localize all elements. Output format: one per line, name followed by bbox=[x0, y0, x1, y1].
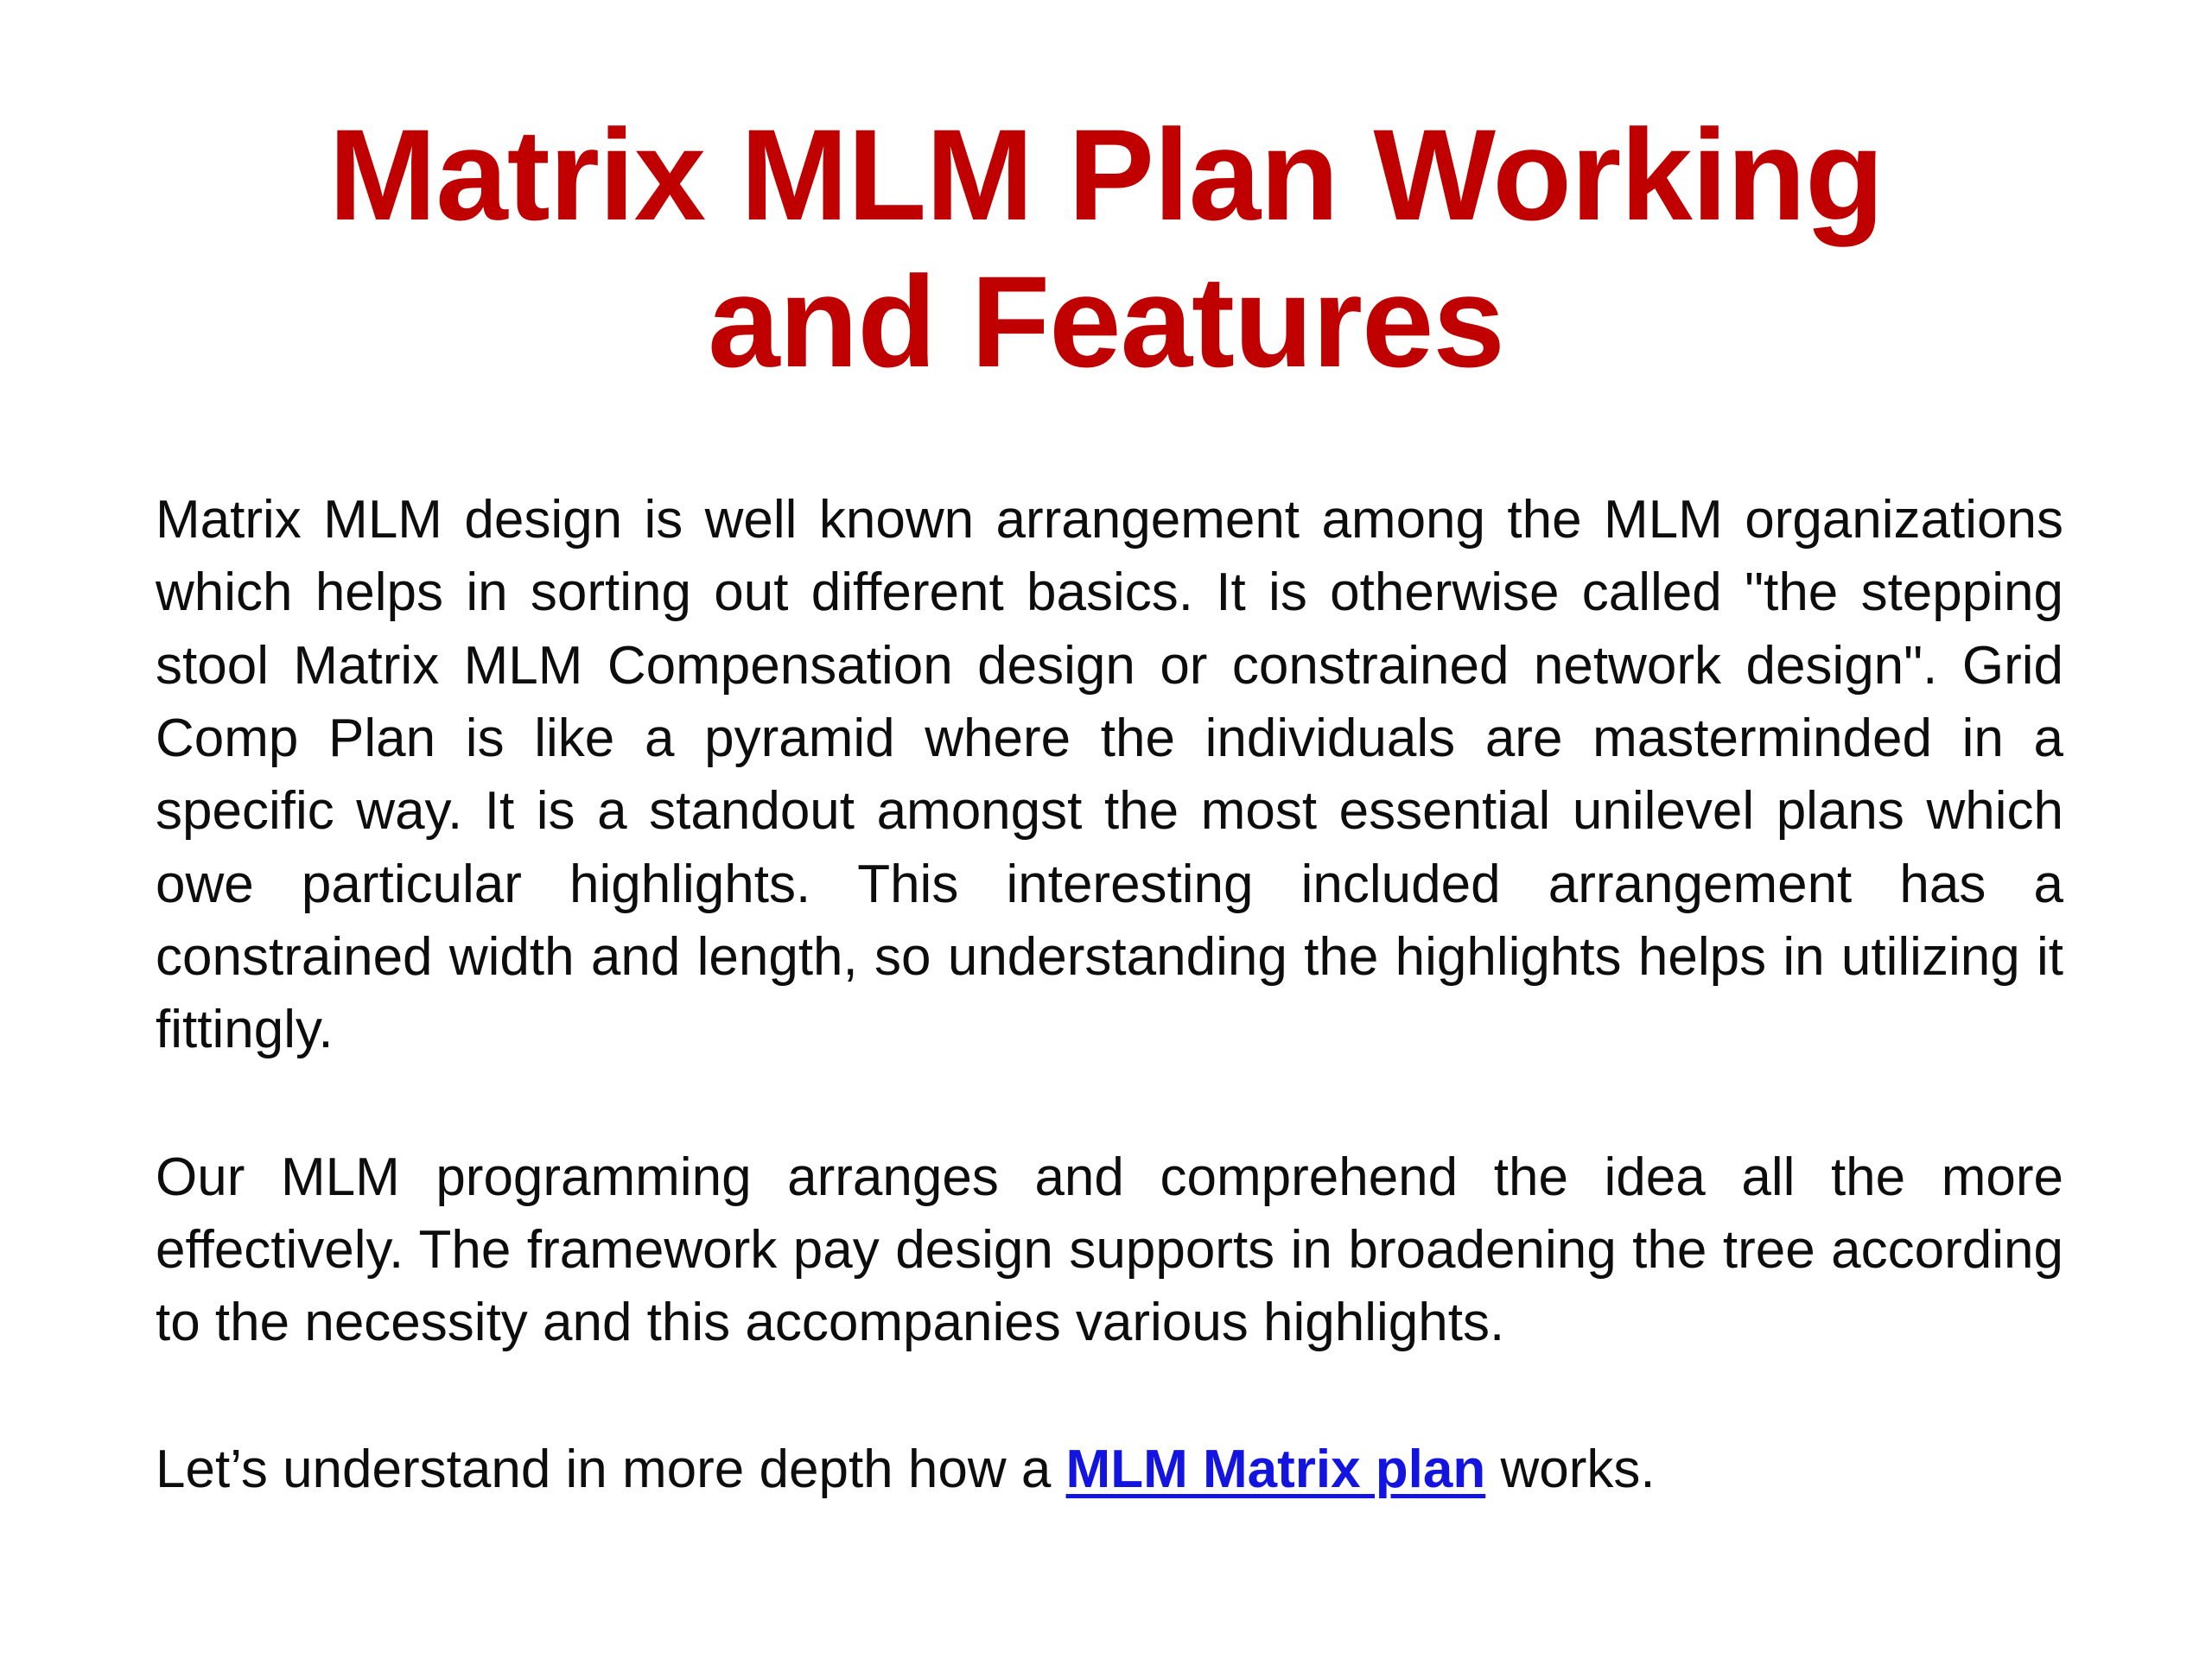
closing-lead-text: Let’s understand in more depth how a bbox=[156, 1440, 1066, 1499]
title-block: Matrix MLM Plan Working and Features bbox=[199, 102, 2013, 395]
body-content: Matrix MLM design is well known arrangem… bbox=[156, 484, 2063, 1507]
paragraph-spacer-2 bbox=[156, 1359, 2063, 1433]
presentation-slide: Matrix MLM Plan Working and Features Mat… bbox=[0, 0, 2212, 1659]
body-paragraph-2: Our MLM programming arranges and compreh… bbox=[156, 1141, 2063, 1360]
body-paragraph-1: Matrix MLM design is well known arrangem… bbox=[156, 484, 2063, 1067]
closing-trail-text: works. bbox=[1485, 1440, 1655, 1499]
paragraph-spacer-1 bbox=[156, 1067, 2063, 1141]
body-paragraph-3: Let’s understand in more depth how a MLM… bbox=[156, 1433, 2063, 1506]
page-title: Matrix MLM Plan Working and Features bbox=[199, 102, 2013, 395]
mlm-matrix-plan-link[interactable]: MLM Matrix plan bbox=[1066, 1440, 1486, 1499]
